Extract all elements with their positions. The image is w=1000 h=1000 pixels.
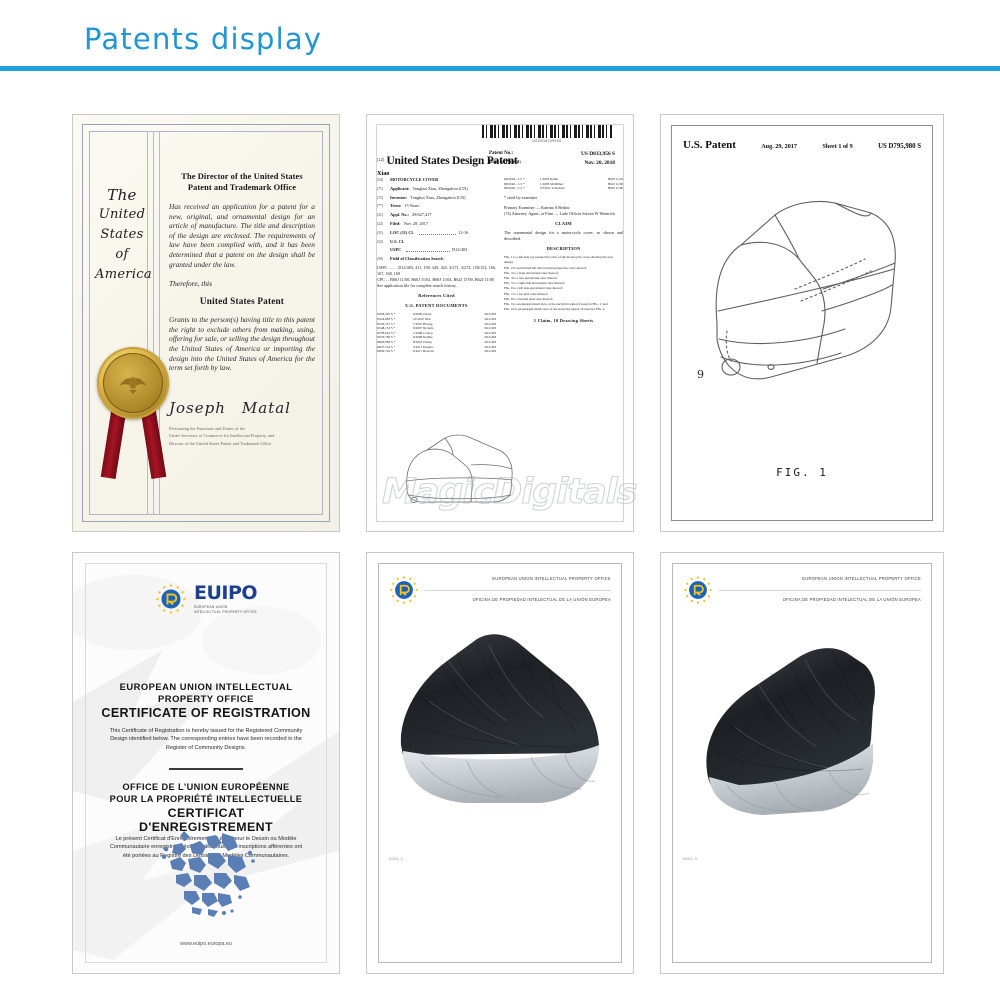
references-subheading: U.S. PATENT DOCUMENTS: [377, 303, 496, 309]
description-heading: DESCRIPTION: [504, 246, 623, 252]
patent-card-drawing-sheet[interactable]: U.S. Patent Aug. 29, 2017 Sheet 1 of 9 U…: [660, 114, 944, 532]
gold-seal-icon: [97, 347, 169, 419]
motorcycle-cover-photo: [381, 621, 623, 833]
figure-caption: FIG. 1: [661, 466, 943, 479]
euipo-url[interactable]: www.euipo.europa.eu: [73, 941, 339, 947]
patent-no-label: Patent No.:: [489, 151, 513, 157]
certificate-heading-en: EUROPEAN UNION INTELLECTUAL PROPERTY OFF…: [91, 681, 321, 719]
patent-date-label: Date of Patent:: [489, 160, 521, 166]
biblio-row: USPCD12/403: [377, 247, 496, 253]
euipo-wordmark: EUIPO EUROPEAN UNION INTELLECTUAL PROPER…: [194, 584, 257, 614]
patent-date-value: Nov. 20, 2018: [584, 160, 615, 166]
inventor-surname: Xiao: [377, 170, 623, 177]
euipo-certificate: EUIPO EUROPEAN UNION INTELLECTUAL PROPER…: [73, 553, 339, 973]
claim-heading: CLAIM: [504, 221, 623, 227]
patent-card-euipo-certificate[interactable]: EUIPO EUROPEAN UNION INTELLECTUAL PROPER…: [72, 552, 340, 974]
patent-office-label: U.S. Patent: [683, 139, 736, 151]
design-patent-columns: (54)MOTORCYCLE COVER (71)Applicant:Tongh…: [377, 177, 623, 421]
figure-description: FIG. 1 is a left side top perspective vi…: [504, 255, 623, 265]
certificate-text-column: The Director of the United States Patent…: [169, 171, 315, 447]
euipo-logo: EUIPO EUROPEAN UNION INTELLECTUAL PROPER…: [155, 583, 257, 615]
office-name-en: EUROPEAN UNION INTELLECTUAL PROPERTY OFF…: [802, 576, 921, 581]
foreign-references-list: DE2020... U1 *1/2003 KellerB60J 11/02 DE…: [504, 177, 623, 191]
motorcycle-cover-photo: [683, 627, 923, 835]
signature-last-name: Matal: [242, 399, 291, 417]
page-title: Patents display: [84, 22, 322, 56]
references-heading: References Cited: [377, 293, 496, 299]
biblio-row: (58)Field of Classification Search: [377, 256, 496, 262]
view-identifier: 0001.3: [683, 856, 697, 861]
signature-first-name: Joseph: [169, 399, 226, 417]
attorney-line: (74) Attorney, Agent, or Firm — Lade Off…: [504, 211, 623, 217]
biblio-row: (21)Appl. No.:29/627,417: [377, 212, 496, 218]
patent-issue-date: Aug. 29, 2017: [761, 143, 797, 150]
director-signature: JosephMatal: [169, 399, 315, 417]
biblio-row: (72)Inventor:Tonghui Xiao, Zhengzhou (CN…: [377, 195, 496, 201]
biblio-row: (52)U.S. Cl.: [377, 239, 496, 245]
biblio-row: (**)Term:15 Years: [377, 203, 496, 209]
country-name-block: The United States of America: [95, 185, 149, 285]
biblio-row: (22)Filed:Nov. 28, 2017: [377, 221, 496, 227]
bibliographic-column: (54)MOTORCYCLE COVER (71)Applicant:Tongh…: [377, 177, 496, 421]
patent-drawing-sheet: U.S. Patent Aug. 29, 2017 Sheet 1 of 9 U…: [661, 115, 943, 531]
references-list: D436,325 S *9/2000 ZarateD12/403 D524,68…: [377, 312, 496, 353]
euipo-logo-subtitle: EUROPEAN UNION INTELLECTUAL PROPERTY OFF…: [194, 605, 257, 614]
title-tag: (12): [377, 157, 384, 162]
patent-number-row: Patent No.: US D833,956 S: [489, 151, 615, 157]
patent-number-block: Patent No.: US D833,956 S Date of Patent…: [489, 151, 615, 168]
claim-text: The ornamental design for a motorcycle c…: [504, 230, 623, 242]
barcode: US00D833956S: [482, 125, 612, 141]
certificate-heading-fr: OFFICE DE L'UNION EUROPÉENNE POUR LA PRO…: [91, 781, 321, 833]
patent-no-value: US D833,956 S: [581, 151, 615, 157]
patents-grid: The United States of America The Directo…: [0, 78, 1000, 1000]
biblio-row: (51)LOC (11) Cl.12-16: [377, 230, 496, 236]
euipo-design-view: EUROPEAN UNION INTELLECTUAL PROPERTY OFF…: [367, 553, 633, 973]
classification-line: USPC ........ D12/403, 411, 190, 349, 44…: [377, 265, 496, 277]
figure-description-list: FIG. 1 is a left side top perspective vi…: [504, 255, 623, 312]
biblio-row: (54)MOTORCYCLE COVER: [377, 177, 496, 183]
us-grant-certificate: The United States of America The Directo…: [73, 115, 339, 531]
page-header: Patents display: [0, 0, 1000, 78]
eu-stars-icon: [683, 575, 713, 605]
motorcycle-cover-figure-icon: [675, 171, 931, 431]
grant-paragraph-2: Grants to the person(s) having title to …: [169, 315, 315, 373]
header-divider: [425, 590, 611, 591]
certificate-body-en: This Certificate of Registration is here…: [107, 727, 305, 752]
reference-row: D639,726 S *6/2011 HowardD12/403: [377, 349, 496, 354]
eu-stars-icon: [389, 575, 419, 605]
header-accent-rule: [0, 66, 1000, 71]
certificate-divider: [169, 768, 243, 770]
design-patent-front-page: US00D833956S (12)United States Design Pa…: [367, 115, 633, 531]
therefore-line: Therefore, this: [169, 279, 315, 288]
design-patent-header: (12)United States Design Patent Xiao Pat…: [377, 151, 623, 177]
drawing-sheet-header: U.S. Patent Aug. 29, 2017 Sheet 1 of 9 U…: [683, 139, 921, 151]
eagle-emblem-icon: [116, 370, 150, 396]
classification-line: See application file for complete search…: [377, 283, 496, 289]
drawing-sheets-count: 1 Claim, 10 Drawing Sheets: [504, 318, 623, 324]
eu-stars-icon: [155, 583, 187, 615]
sheet-number: Sheet 1 of 9: [822, 143, 852, 150]
patent-number: US D795,980 S: [878, 143, 921, 150]
patent-date-row: Date of Patent: Nov. 20, 2018: [489, 160, 615, 166]
claim-description-column: DE2020... U1 *1/2003 KellerB60J 11/02 DE…: [504, 177, 623, 421]
patent-card-us-grant[interactable]: The United States of America The Directo…: [72, 114, 340, 532]
signature-titles: Performing the Functions and Duties of t…: [169, 425, 315, 448]
patent-card-design-front[interactable]: US00D833956S (12)United States Design Pa…: [366, 114, 634, 532]
reference-numeral: 9: [697, 368, 704, 381]
office-name-es: OFICINA DE PROPIEDAD INTELECTUAL DE LA U…: [473, 597, 611, 602]
motorcycle-cover-drawing-icon: [383, 417, 533, 517]
patent-card-euipo-view-3[interactable]: EUROPEAN UNION INTELLECTUAL PROPERTY OFF…: [660, 552, 944, 974]
certificate-seal-group: [97, 347, 169, 477]
euipo-word: EUIPO: [194, 584, 257, 603]
grant-paragraph-1: Has received an application for a patent…: [169, 202, 315, 269]
office-name-en: EUROPEAN UNION INTELLECTUAL PROPERTY OFF…: [492, 576, 611, 581]
patent-card-euipo-view-2[interactable]: EUROPEAN UNION INTELLECTUAL PROPERTY OFF…: [366, 552, 634, 974]
view-identifier: 0001.2: [389, 856, 403, 861]
biblio-row: (71)Applicant:Tonghui Xiao, Zhengzhou (C…: [377, 186, 496, 192]
barcode-bars: [482, 125, 612, 138]
header-divider: [719, 590, 921, 591]
reference-row: DE2020... U1 *10/2011 SchachterB60J 11/0…: [504, 186, 623, 191]
director-heading: The Director of the United States Patent…: [169, 171, 315, 193]
europe-map-icon: [154, 827, 258, 921]
euipo-design-view: EUROPEAN UNION INTELLECTUAL PROPERTY OFF…: [661, 553, 943, 973]
cited-by-examiner: * cited by examiner: [504, 195, 623, 201]
barcode-number: US00D833956S: [482, 139, 612, 143]
figure-description: FIG. 10 is an enlarged detail view of th…: [504, 307, 623, 312]
grant-title: United States Patent: [169, 296, 315, 306]
office-name-es: OFICINA DE PROPIEDAD INTELECTUAL DE LA U…: [783, 597, 921, 602]
